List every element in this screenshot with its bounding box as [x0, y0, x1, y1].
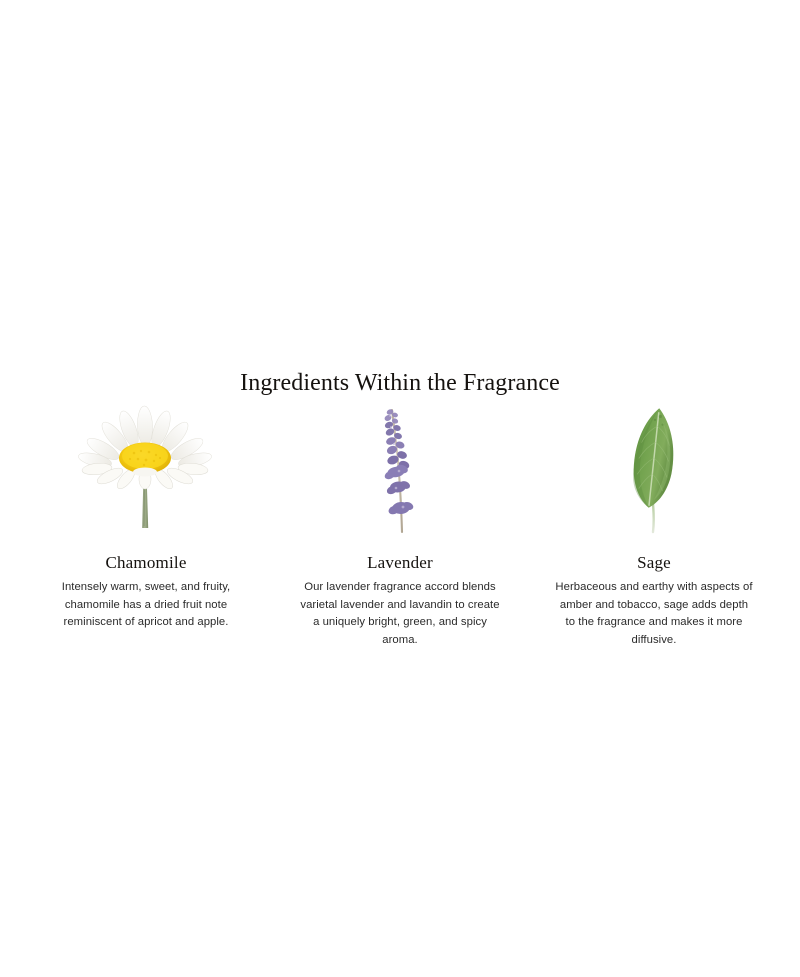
ingredient-description: Herbaceous and earthy with aspects of am… [554, 579, 754, 649]
lavender-sprig-image [320, 400, 480, 540]
chamomile-flower-image [66, 400, 226, 540]
ingredient-name: Sage [637, 552, 671, 574]
sage-leaf-image [574, 400, 734, 540]
ingredient-name: Lavender [367, 552, 433, 574]
ingredient-description: Our lavender fragrance accord blends var… [300, 579, 500, 649]
ingredient-description: Intensely warm, sweet, and fruity, chamo… [46, 579, 246, 632]
ingredient-card-chamomile: Chamomile Intensely warm, sweet, and fru… [30, 400, 262, 632]
ingredients-page: Ingredients Within the Fragrance [0, 0, 800, 977]
ingredient-card-lavender: Lavender Our lavender fragrance accord b… [284, 400, 516, 649]
page-title: Ingredients Within the Fragrance [0, 368, 800, 398]
ingredient-card-sage: Sage Herbaceous and earthy with aspects … [538, 400, 770, 649]
ingredient-name: Chamomile [105, 552, 186, 574]
ingredients-columns: Chamomile Intensely warm, sweet, and fru… [30, 400, 770, 690]
